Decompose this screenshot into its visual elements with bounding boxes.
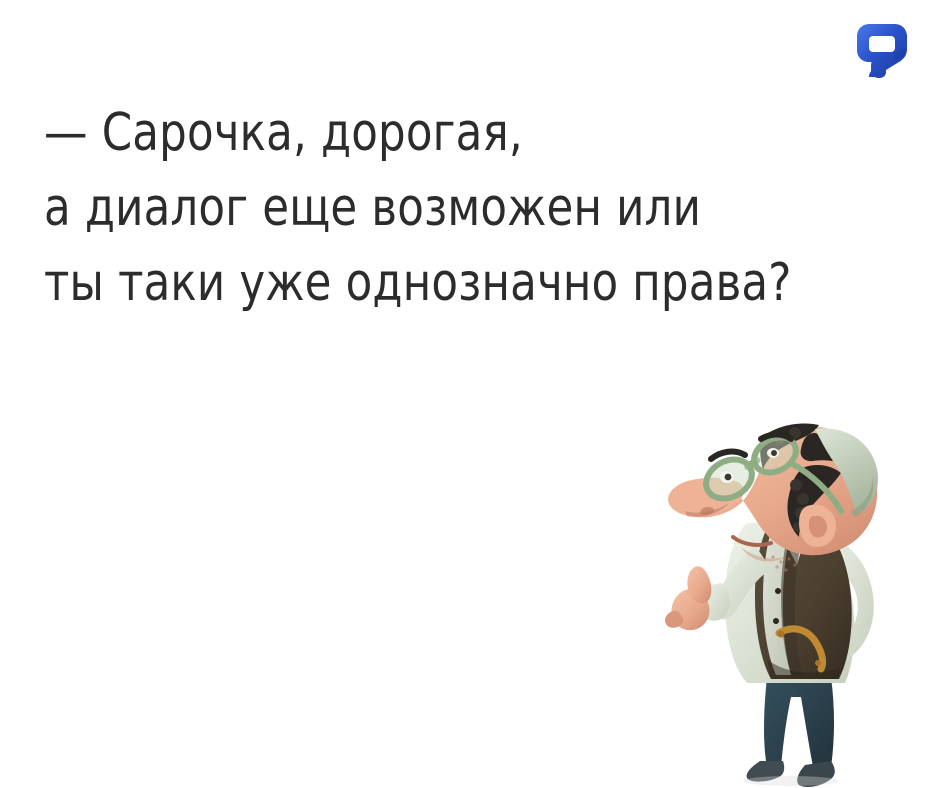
quote-line-3: ты таки уже однозначно права? — [44, 246, 825, 321]
quote-line-2: а диалог еще возможен или — [44, 171, 825, 246]
quote-block: — Сарочка, дорогая, а диалог еще возможе… — [44, 96, 884, 321]
quote-line-1: — Сарочка, дорогая, — [44, 96, 825, 171]
clay-man-icon — [655, 415, 940, 788]
nine-logo-icon — [854, 22, 910, 80]
clay-man-figurine — [655, 415, 940, 788]
nine-logo[interactable] — [854, 22, 910, 80]
joke-card: — Сарочка, дорогая, а диалог еще возможе… — [0, 0, 940, 788]
